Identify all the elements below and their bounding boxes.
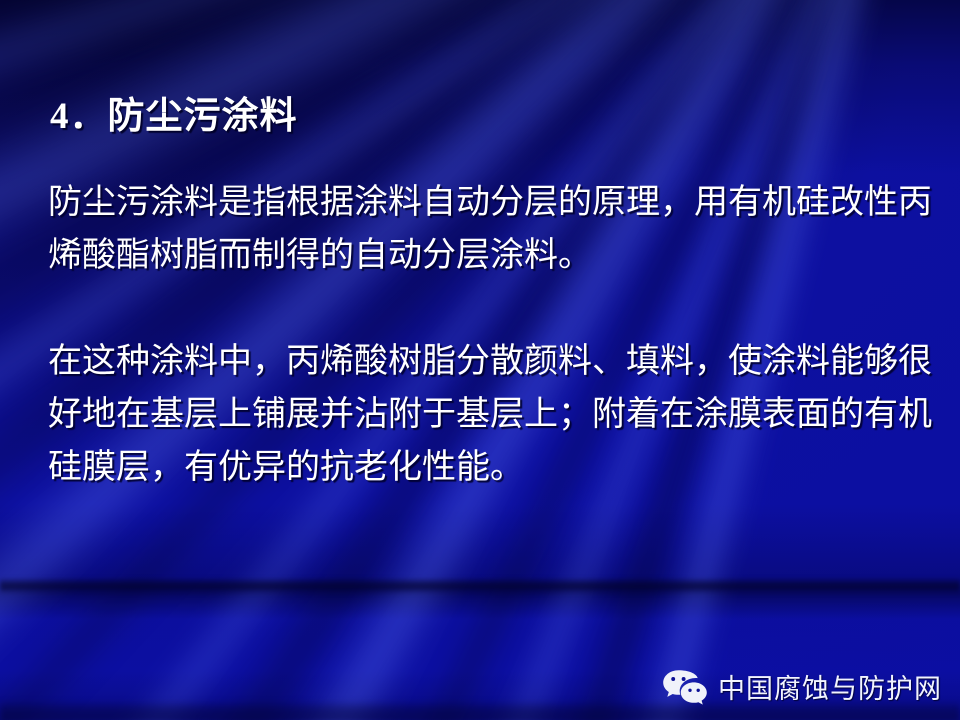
slide-title: 4．防尘污涂料 <box>50 98 298 137</box>
watermark-text: 中国腐蚀与防护网 <box>718 667 942 706</box>
body-paragraph-2: 在这种涂料中，丙烯酸树脂分散颜料、填料，使涂料能够很好地在基层上铺展并沾附于基层… <box>48 335 932 494</box>
slide-content: 4．防尘污涂料 防尘污涂料是指根据涂料自动分层的原理，用有机硅改性丙烯酸酯树脂而… <box>0 0 960 720</box>
body-paragraph-1: 防尘污涂料是指根据涂料自动分层的原理，用有机硅改性丙烯酸酯树脂而制得的自动分层涂… <box>48 176 932 282</box>
paragraph-spacer <box>48 282 932 335</box>
watermark: 中国腐蚀与防护网 <box>662 667 942 706</box>
slide-body: 防尘污涂料是指根据涂料自动分层的原理，用有机硅改性丙烯酸酯树脂而制得的自动分层涂… <box>48 176 932 494</box>
slide-canvas: 4．防尘污涂料 防尘污涂料是指根据涂料自动分层的原理，用有机硅改性丙烯酸酯树脂而… <box>0 0 960 720</box>
wechat-icon <box>662 668 708 706</box>
